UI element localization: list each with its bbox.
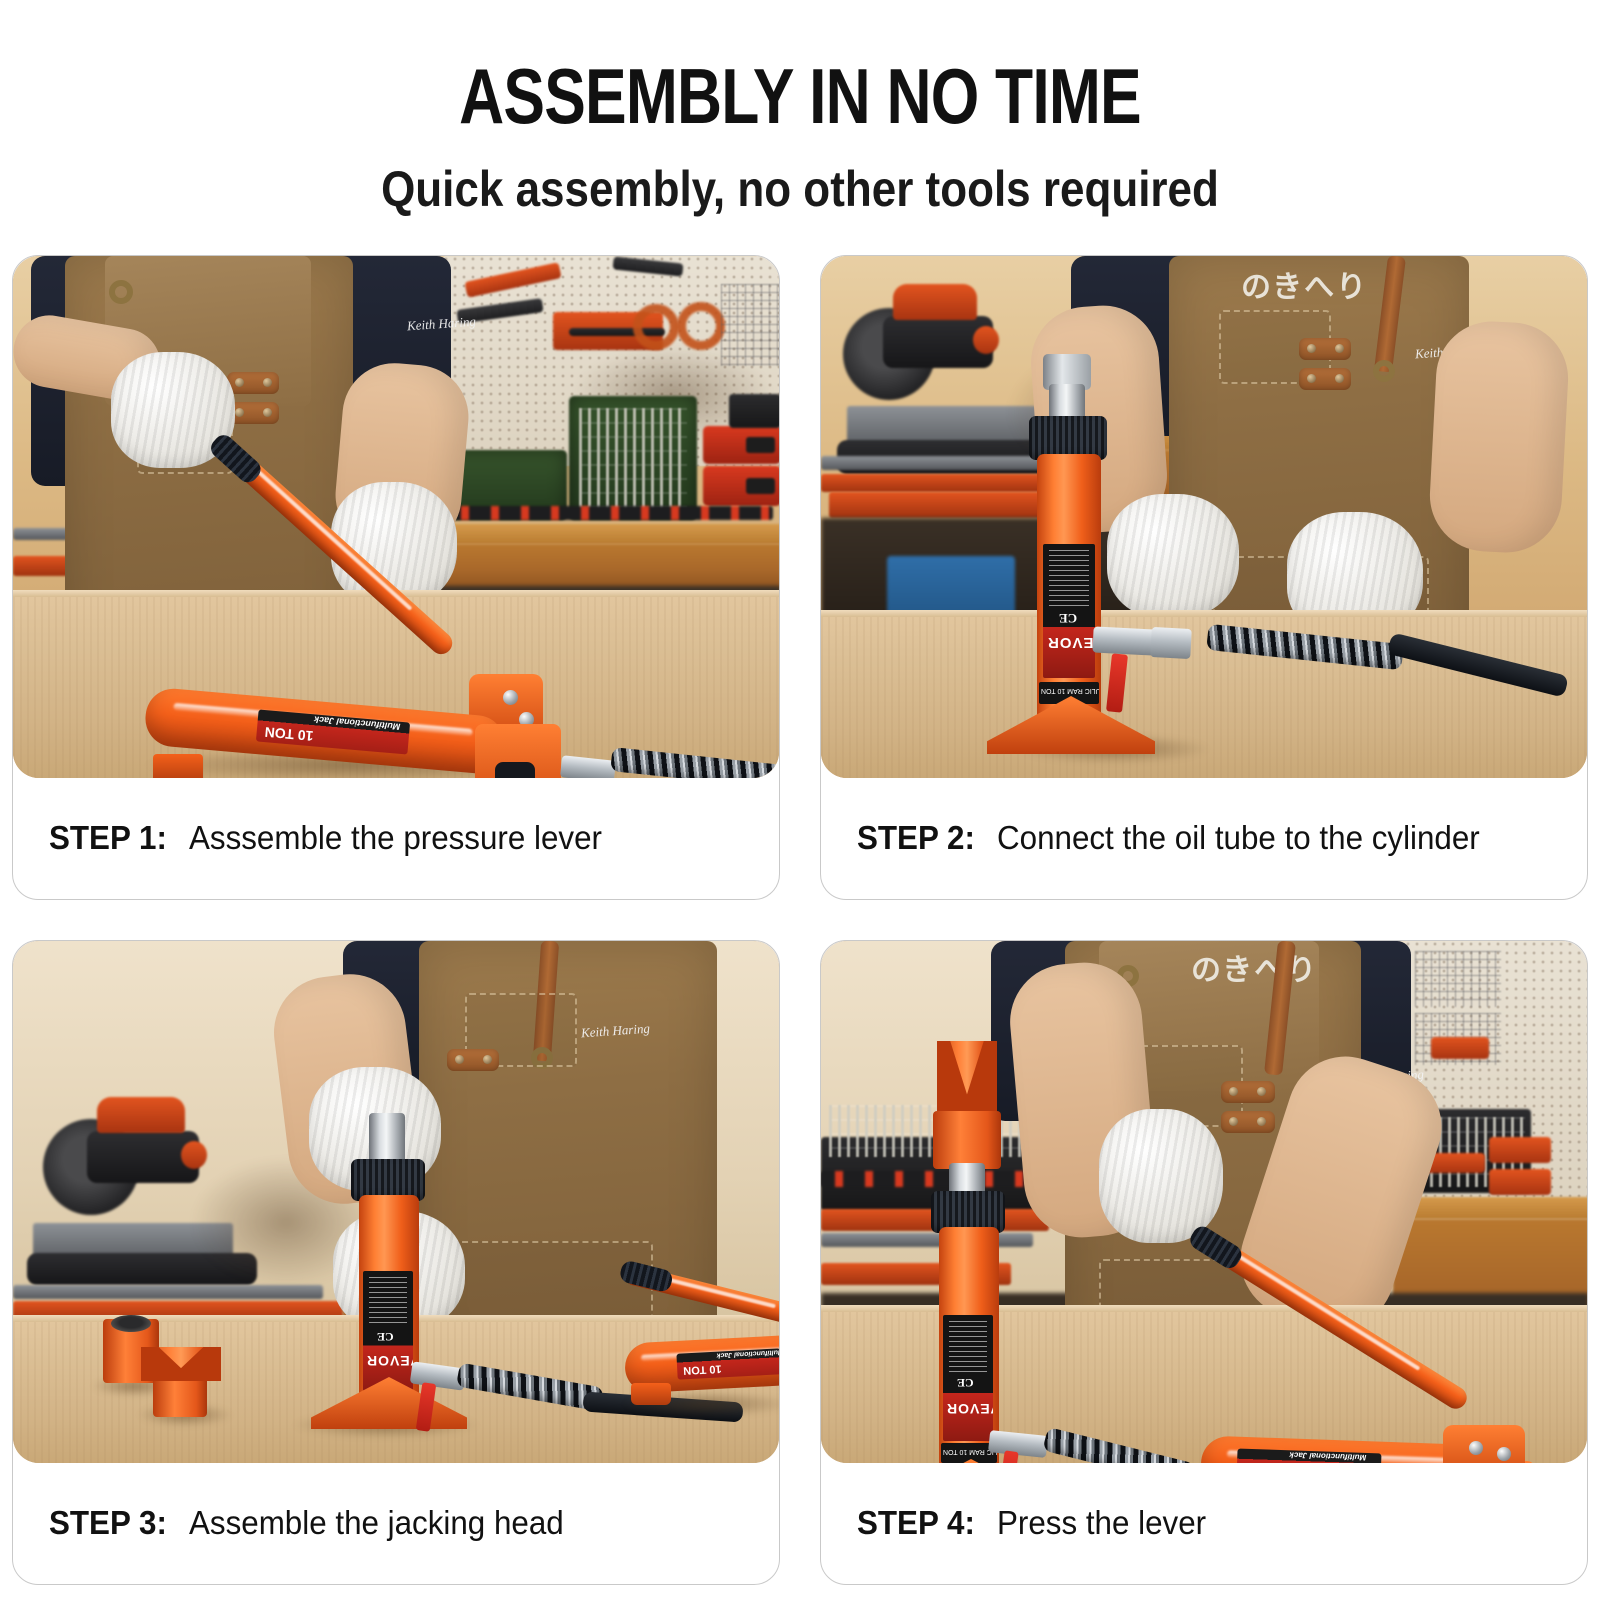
step-card-4: のきへり Keith Haring (820, 940, 1588, 1585)
left-rack-tube (821, 1233, 1033, 1247)
step-text-4: Press the lever (997, 1504, 1206, 1542)
apron-rivet-4 (1257, 1117, 1266, 1126)
apron-rivet-3 (1307, 374, 1316, 383)
shirt-print: のきへり (1241, 262, 1368, 306)
step-card-3: Keith Haring (12, 940, 780, 1585)
ce-mark: CE (377, 1329, 394, 1344)
pump-label-tonnage: 10 TON (1245, 1462, 1291, 1463)
step-photo-3: Keith Haring (13, 941, 779, 1463)
miter-saw-handle (893, 284, 977, 320)
table-edge (821, 1305, 1587, 1312)
cylinder-brand: VEVOR (1047, 634, 1095, 651)
scene-cylinder-hose-connection: のきへり Keith Haring (821, 256, 1587, 778)
glove-texture (1099, 1109, 1223, 1243)
apron-rivet-1 (235, 378, 244, 387)
glove-texture (1107, 494, 1239, 618)
apron-rivet-2 (1335, 344, 1344, 353)
step-card-2: のきへり Keith Haring (820, 255, 1588, 900)
scene-jacking-head-assembly: Keith Haring (13, 941, 779, 1463)
scene-pressing-lever: のきへり Keith Haring (821, 941, 1587, 1463)
hanging-coil-right (677, 302, 725, 350)
red-case-top (703, 426, 779, 464)
hose-coupler-nut (1150, 627, 1192, 659)
infographic-page: ASSEMBLY IN NO TIME Quick assembly, no o… (0, 0, 1600, 1600)
pump-foot (631, 1383, 671, 1405)
miter-saw-knob (973, 326, 999, 354)
apron-d-ring (1373, 360, 1395, 382)
glove-upper (1099, 1109, 1223, 1243)
cylinder-label-text-lines (369, 1277, 407, 1327)
apron-rivet-2 (483, 1055, 492, 1064)
cylinder-label: CE VEVOR (943, 1315, 993, 1441)
wire-basket-top (1415, 951, 1501, 1007)
pump-foot-left (153, 754, 203, 778)
miter-saw-handle (97, 1097, 185, 1133)
ce-mark: CE (957, 1375, 974, 1390)
release-valve-knob (495, 762, 535, 778)
cylinder-spec-text: HYDRAULIC RAM 10 TON (1041, 687, 1099, 694)
step-photo-4: のきへり Keith Haring (821, 941, 1587, 1463)
saw-stand-tube (13, 1285, 323, 1299)
hanging-clamp-2 (1489, 1137, 1551, 1163)
apron-rivet-2 (1257, 1087, 1266, 1096)
page-title: ASSEMBLY IN NO TIME (160, 56, 1440, 138)
cylinder-brand: VEVOR (366, 1353, 413, 1369)
apron-d-ring (109, 280, 133, 304)
hanging-coil-left (633, 304, 679, 350)
step-label-1: STEP 1: (49, 819, 167, 857)
step-text-1: Asssemble the pressure lever (189, 819, 602, 857)
cylinder-label-text-lines (949, 1321, 987, 1373)
apron-rivet-4 (263, 408, 272, 417)
step-label-4: STEP 4: (857, 1504, 975, 1542)
hanging-clamp-1 (1431, 1037, 1489, 1059)
apron-rivet-2 (263, 378, 272, 387)
workbench-legs (413, 544, 779, 590)
step-photo-1: Keith Haring (13, 256, 779, 778)
red-case-bottom (703, 466, 779, 506)
pump-label-tonnage: 10 TON (264, 724, 314, 744)
pump-label: 10 TON Multifunctional Jack (676, 1348, 779, 1379)
cylinder-brand: VEVOR (946, 1401, 993, 1417)
step-caption-3: STEP 3: Assemble the jacking head (49, 1462, 584, 1584)
steps-grid: Keith Haring (12, 255, 1588, 1585)
step-caption-4: STEP 4: Press the lever (857, 1462, 1217, 1584)
yoke-bolt-2 (1497, 1447, 1511, 1461)
apron-rivet-1 (1229, 1087, 1238, 1096)
apron-rivet-4 (1335, 374, 1344, 383)
yoke-bolt-1 (1469, 1441, 1483, 1455)
apron-rivet-1 (1307, 344, 1316, 353)
glove-left (1107, 494, 1239, 618)
black-box (729, 394, 779, 428)
jacking-head-shank (933, 1111, 1001, 1169)
left-clamps (821, 1171, 1027, 1187)
cylinder-inlet-fitting (1092, 626, 1155, 655)
page-subtitle: Quick assembly, no other tools required (96, 160, 1504, 218)
pump-label-name: Multifunctional Jack (1289, 1450, 1366, 1462)
scene-pump-with-lever: Keith Haring (13, 256, 779, 778)
jacking-head-notch (141, 1347, 221, 1381)
workbench-top (413, 524, 779, 544)
step-photo-2: のきへり Keith Haring (821, 256, 1587, 778)
apron-rivet-1 (455, 1055, 464, 1064)
cylinder-label: CE VEVOR (363, 1271, 413, 1391)
pump-label-tonnage: 10 TON (683, 1362, 722, 1376)
drill-bits (579, 408, 687, 512)
shirt-print: のきへり (1191, 945, 1318, 989)
cylinder-label: CE VEVOR (1043, 544, 1095, 678)
pump-lever-yoke (1443, 1425, 1525, 1463)
tool-row (417, 506, 773, 520)
step-text-3: Assemble the jacking head (189, 1504, 564, 1542)
step-card-1: Keith Haring (12, 255, 780, 900)
step-text-2: Connect the oil tube to the cylinder (997, 819, 1480, 857)
apron-rivet-3 (1229, 1117, 1238, 1126)
yoke-bolt-1 (503, 690, 518, 705)
apron-rivet-3 (235, 408, 244, 417)
ce-mark: CE (1059, 610, 1077, 626)
step-caption-2: STEP 2: Connect the oil tube to the cyli… (857, 777, 1505, 899)
table-edge (821, 610, 1587, 617)
left-arm (1427, 319, 1571, 556)
jacking-head-saddle (141, 1347, 221, 1381)
step-caption-1: STEP 1: Asssemble the pressure lever (49, 777, 624, 899)
step-label-3: STEP 3: (49, 1504, 167, 1542)
hanging-clamp-3 (1489, 1169, 1551, 1195)
header: ASSEMBLY IN NO TIME Quick assembly, no o… (0, 0, 1600, 218)
coupler-bore (111, 1315, 151, 1332)
cylinder-label-text-lines (1049, 550, 1089, 606)
step-label-2: STEP 2: (857, 819, 975, 857)
